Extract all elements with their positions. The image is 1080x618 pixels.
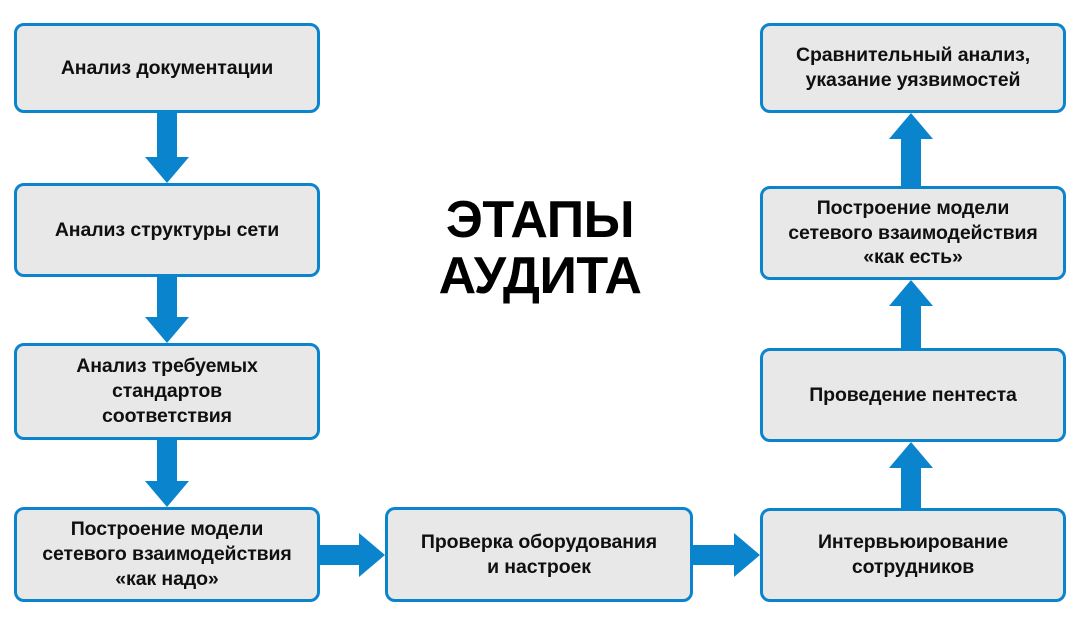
node-label-equipment-check: Проверка оборудования и настроек — [421, 530, 657, 580]
arrow-standards-analysis-to-model-as-needed — [145, 440, 189, 507]
node-label-pentest: Проведение пентеста — [809, 383, 1017, 408]
node-label-model-as-is: Построение модели сетевого взаимодействи… — [788, 196, 1037, 271]
arrow-down-icon — [145, 277, 189, 343]
arrow-staff-interview-to-pentest — [889, 442, 933, 508]
arrow-model-as-is-to-comparative-analysis — [889, 113, 933, 186]
node-network-structure[interactable]: Анализ структуры сети — [14, 183, 320, 277]
node-comparative-analysis[interactable]: Сравнительный анализ, указание уязвимост… — [760, 23, 1066, 113]
node-standards-analysis[interactable]: Анализ требуемых стандартов соответствия — [14, 343, 320, 440]
audit-stages-diagram: Анализ документацииАнализ структуры сети… — [0, 0, 1080, 618]
arrow-right-icon — [320, 533, 385, 577]
arrow-equipment-check-to-staff-interview — [693, 533, 760, 577]
node-model-as-is[interactable]: Построение модели сетевого взаимодействи… — [760, 186, 1066, 280]
node-label-staff-interview: Интервьюирование сотрудников — [818, 530, 1008, 580]
arrow-pentest-to-model-as-is — [889, 280, 933, 348]
node-label-doc-analysis: Анализ документации — [61, 56, 273, 81]
node-label-network-structure: Анализ структуры сети — [55, 218, 279, 243]
arrow-network-structure-to-standards-analysis — [145, 277, 189, 343]
arrow-up-icon — [889, 113, 933, 186]
arrow-down-icon — [145, 113, 189, 183]
node-equipment-check[interactable]: Проверка оборудования и настроек — [385, 507, 693, 602]
node-model-as-needed[interactable]: Построение модели сетевого взаимодействи… — [14, 507, 320, 602]
node-label-standards-analysis: Анализ требуемых стандартов соответствия — [76, 354, 258, 429]
node-staff-interview[interactable]: Интервьюирование сотрудников — [760, 508, 1066, 602]
arrow-model-as-needed-to-equipment-check — [320, 533, 385, 577]
node-label-comparative-analysis: Сравнительный анализ, указание уязвимост… — [796, 43, 1030, 93]
arrow-down-icon — [145, 440, 189, 507]
arrow-up-icon — [889, 442, 933, 508]
arrow-right-icon — [693, 533, 760, 577]
node-doc-analysis[interactable]: Анализ документации — [14, 23, 320, 113]
node-pentest[interactable]: Проведение пентеста — [760, 348, 1066, 442]
arrow-doc-analysis-to-network-structure — [145, 113, 189, 183]
diagram-title: ЭТАПЫ АУДИТА — [395, 192, 685, 304]
arrow-up-icon — [889, 280, 933, 348]
node-label-model-as-needed: Построение модели сетевого взаимодействи… — [42, 517, 291, 592]
